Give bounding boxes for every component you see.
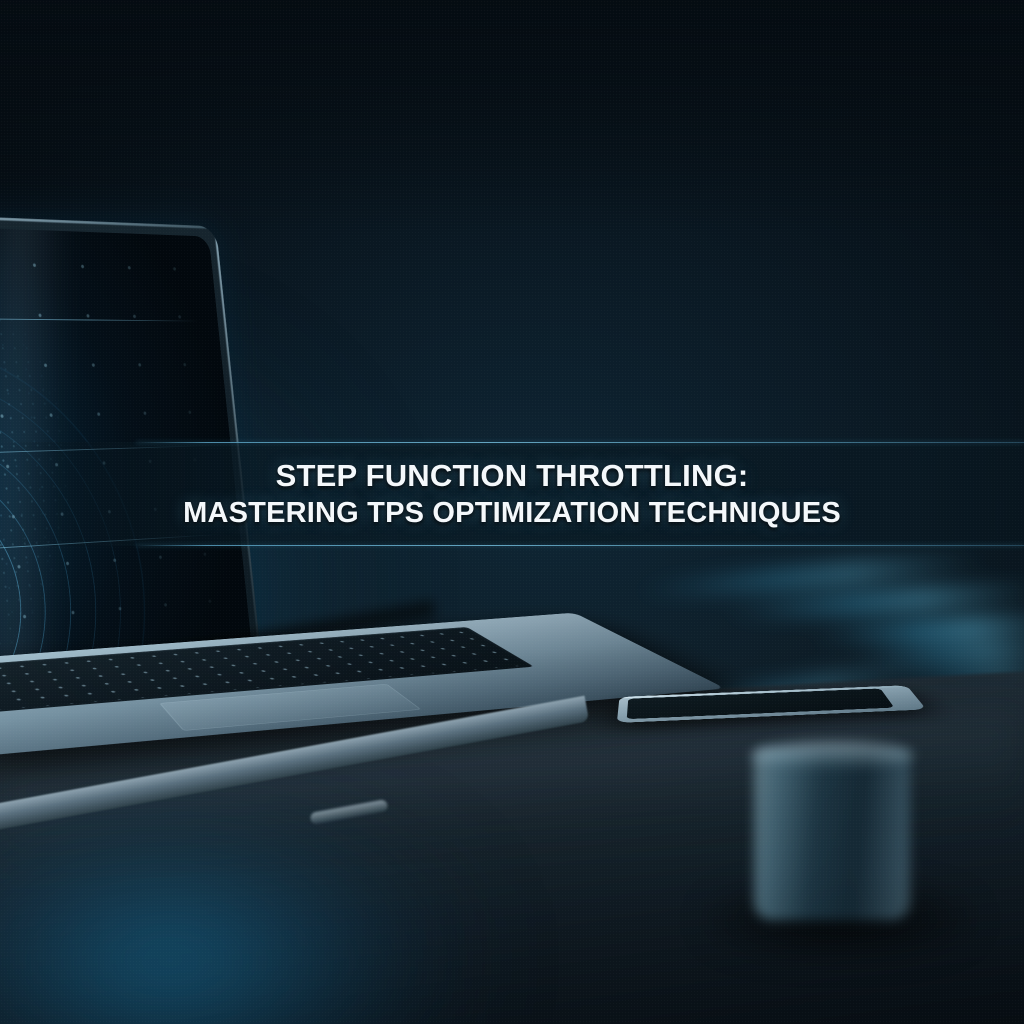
- light-streak: [850, 642, 1024, 663]
- title-block: STEP FUNCTION THROTTLING: MASTERING TPS …: [0, 442, 1024, 546]
- light-streak: [810, 615, 1024, 643]
- title-line-1: STEP FUNCTION THROTTLING:: [276, 458, 749, 494]
- coffee-cup-rim: [750, 742, 914, 768]
- laptop: [0, 210, 650, 970]
- hero-banner-image: STEP FUNCTION THROTTLING: MASTERING TPS …: [0, 0, 1024, 1024]
- laptop-lid-notch: [310, 799, 389, 825]
- title-line-2: MASTERING TPS OPTIMIZATION TECHNIQUES: [183, 496, 841, 530]
- coffee-cup: [754, 748, 910, 920]
